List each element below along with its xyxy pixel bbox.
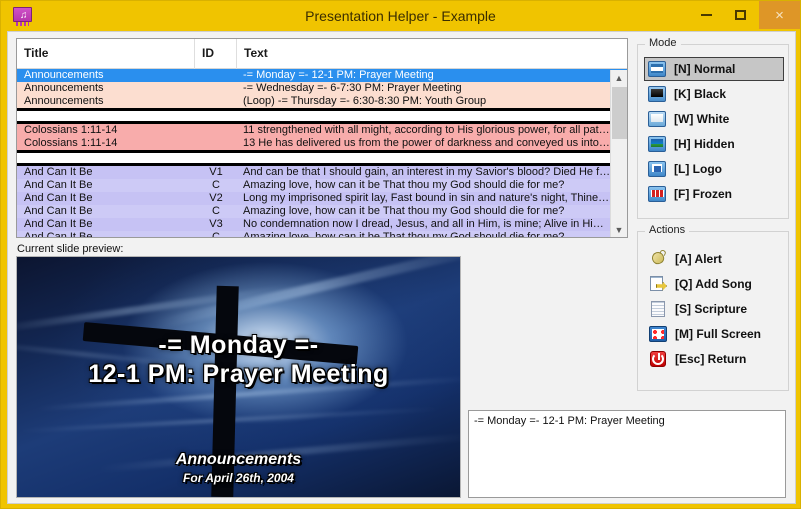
- table-row[interactable]: And Can It BeCAmazing love, how can it b…: [17, 179, 627, 192]
- row-text: 13 He has delivered us from the power of…: [243, 137, 611, 149]
- row-title: And Can It Be: [24, 231, 194, 238]
- mode-logo-icon: [648, 161, 666, 177]
- row-title: And Can It Be: [24, 218, 194, 230]
- group-gap: [17, 111, 627, 121]
- table-row[interactable]: Colossians 1:11-1413 He has delivered us…: [17, 137, 627, 150]
- mode-group: Mode [N] Normal[K] Black[W] White[H] Hid…: [637, 44, 789, 219]
- mode-option-label: [L] Logo: [674, 162, 722, 176]
- row-id: V1: [195, 166, 237, 178]
- scroll-up-icon[interactable]: ▲: [611, 70, 627, 86]
- table-row[interactable]: Announcements-= Monday =- 12-1 PM: Praye…: [17, 69, 627, 82]
- row-title: And Can It Be: [24, 179, 194, 191]
- table-row[interactable]: And Can It BeCAmazing love, how can it b…: [17, 205, 627, 218]
- scrollbar-thumb[interactable]: [612, 87, 627, 139]
- mode-normal-icon: [648, 61, 666, 77]
- actions-group: Actions [A] Alert[Q] Add Song[S] Scriptu…: [637, 231, 789, 391]
- slide-preview[interactable]: -= Monday =- 12-1 PM: Prayer Meeting Ann…: [16, 256, 461, 498]
- scripture-icon: [648, 299, 668, 319]
- mode-option-l-logo[interactable]: [L] Logo: [644, 157, 784, 181]
- mode-group-title: Mode: [645, 37, 681, 49]
- action-m-full-screen[interactable]: [M] Full Screen: [644, 321, 786, 346]
- row-id: V3: [195, 218, 237, 230]
- list-header: Title ID Text: [17, 39, 627, 69]
- mode-white-icon: [648, 111, 666, 127]
- mode-frozen-icon: [648, 186, 666, 202]
- action-label: [Esc] Return: [675, 352, 746, 366]
- mode-option-label: [K] Black: [674, 87, 726, 101]
- action-s-scripture[interactable]: [S] Scripture: [644, 296, 786, 321]
- row-id: C: [195, 205, 237, 217]
- mode-hidden-icon: [648, 136, 666, 152]
- action-label: [A] Alert: [675, 252, 722, 266]
- row-id: C: [195, 179, 237, 191]
- row-text: Amazing love, how can it be That thou my…: [243, 231, 611, 238]
- mode-option-k-black[interactable]: [K] Black: [644, 82, 784, 106]
- row-title: Colossians 1:11-14: [24, 124, 194, 136]
- application-window: ♫ Presentation Helper - Example × Title …: [0, 0, 801, 509]
- column-header-id[interactable]: ID: [195, 39, 237, 69]
- row-title: And Can It Be: [24, 205, 194, 217]
- row-text: -= Wednesday =- 6-7:30 PM: Prayer Meetin…: [243, 82, 611, 94]
- mode-option-label: [H] Hidden: [674, 137, 735, 151]
- mode-option-label: [W] White: [674, 112, 729, 126]
- close-button[interactable]: ×: [759, 1, 800, 29]
- action-label: [Q] Add Song: [675, 277, 752, 291]
- row-title: Announcements: [24, 82, 194, 94]
- add-song-icon: [648, 274, 668, 294]
- mode-option-w-white[interactable]: [W] White: [644, 107, 784, 131]
- row-text: (Loop) -= Thursday =- 6:30-8:30 PM: Yout…: [243, 95, 611, 107]
- scroll-down-icon[interactable]: ▼: [611, 222, 627, 238]
- row-title: And Can It Be: [24, 192, 194, 204]
- alert-icon: [648, 249, 668, 269]
- slide-line-2: 12-1 PM: Prayer Meeting: [17, 360, 460, 389]
- slide-subtitle-2: For April 26th, 2004: [17, 471, 460, 485]
- row-title: Announcements: [24, 69, 194, 81]
- group-gap: [17, 153, 627, 163]
- row-id: V2: [195, 192, 237, 204]
- mode-option-label: [N] Normal: [674, 62, 735, 76]
- mode-option-n-normal[interactable]: [N] Normal: [644, 57, 784, 81]
- title-bar: ♫ Presentation Helper - Example ×: [1, 1, 800, 31]
- row-text: Long my imprisoned spirit lay, Fast boun…: [243, 192, 611, 204]
- table-row[interactable]: Colossians 1:11-1411 strengthened with a…: [17, 124, 627, 137]
- column-header-title[interactable]: Title: [17, 39, 195, 69]
- row-title: Announcements: [24, 95, 194, 107]
- row-title: And Can It Be: [24, 166, 194, 178]
- list-body: Announcements-= Monday =- 12-1 PM: Praye…: [17, 69, 627, 238]
- client-area: Title ID Text Announcements-= Monday =- …: [7, 31, 796, 504]
- row-id: C: [195, 231, 237, 238]
- table-row[interactable]: And Can It BeV2Long my imprisoned spirit…: [17, 192, 627, 205]
- table-row[interactable]: And Can It BeCAmazing love, how can it b…: [17, 231, 627, 238]
- table-row[interactable]: And Can It BeV1And can be that I should …: [17, 166, 627, 179]
- window-title: Presentation Helper - Example: [1, 1, 800, 31]
- action-label: [M] Full Screen: [675, 327, 761, 341]
- action-q-add-song[interactable]: [Q] Add Song: [644, 271, 786, 296]
- table-row[interactable]: Announcements-= Wednesday =- 6-7:30 PM: …: [17, 82, 627, 95]
- row-text: And can be that I should gain, an intere…: [243, 166, 611, 178]
- row-text: 11 strengthened with all might, accordin…: [243, 124, 611, 136]
- return-icon: [648, 349, 668, 369]
- action-a-alert[interactable]: [A] Alert: [644, 246, 786, 271]
- slide-line-1: -= Monday =-: [17, 331, 460, 360]
- action-esc-return[interactable]: [Esc] Return: [644, 346, 786, 371]
- list-scrollbar[interactable]: ▲ ▼: [610, 70, 627, 238]
- row-text: Amazing love, how can it be That thou my…: [243, 179, 611, 191]
- row-text: -= Monday =- 12-1 PM: Prayer Meeting: [243, 69, 611, 81]
- slide-list[interactable]: Title ID Text Announcements-= Monday =- …: [16, 38, 628, 238]
- maximize-button[interactable]: [722, 1, 759, 29]
- mode-option-label: [F] Frozen: [674, 187, 732, 201]
- column-header-text[interactable]: Text: [237, 39, 609, 69]
- minimize-button[interactable]: [688, 1, 725, 29]
- row-text: Amazing love, how can it be That thou my…: [243, 205, 611, 217]
- actions-group-title: Actions: [645, 224, 689, 236]
- mode-black-icon: [648, 86, 666, 102]
- row-text: No condemnation now I dread, Jesus, and …: [243, 218, 611, 230]
- mode-option-f-frozen[interactable]: [F] Frozen: [644, 182, 784, 206]
- preview-label: Current slide preview:: [17, 243, 123, 255]
- row-title: Colossians 1:11-14: [24, 137, 194, 149]
- slide-text-editor[interactable]: -= Monday =- 12-1 PM: Prayer Meeting: [468, 410, 786, 498]
- mode-option-h-hidden[interactable]: [H] Hidden: [644, 132, 784, 156]
- full-screen-icon: [648, 324, 668, 344]
- action-label: [S] Scripture: [675, 302, 747, 316]
- table-row[interactable]: And Can It BeV3No condemnation now I dre…: [17, 218, 627, 231]
- table-row[interactable]: Announcements(Loop) -= Thursday =- 6:30-…: [17, 95, 627, 108]
- slide-subtitle-1: Announcements: [17, 451, 460, 469]
